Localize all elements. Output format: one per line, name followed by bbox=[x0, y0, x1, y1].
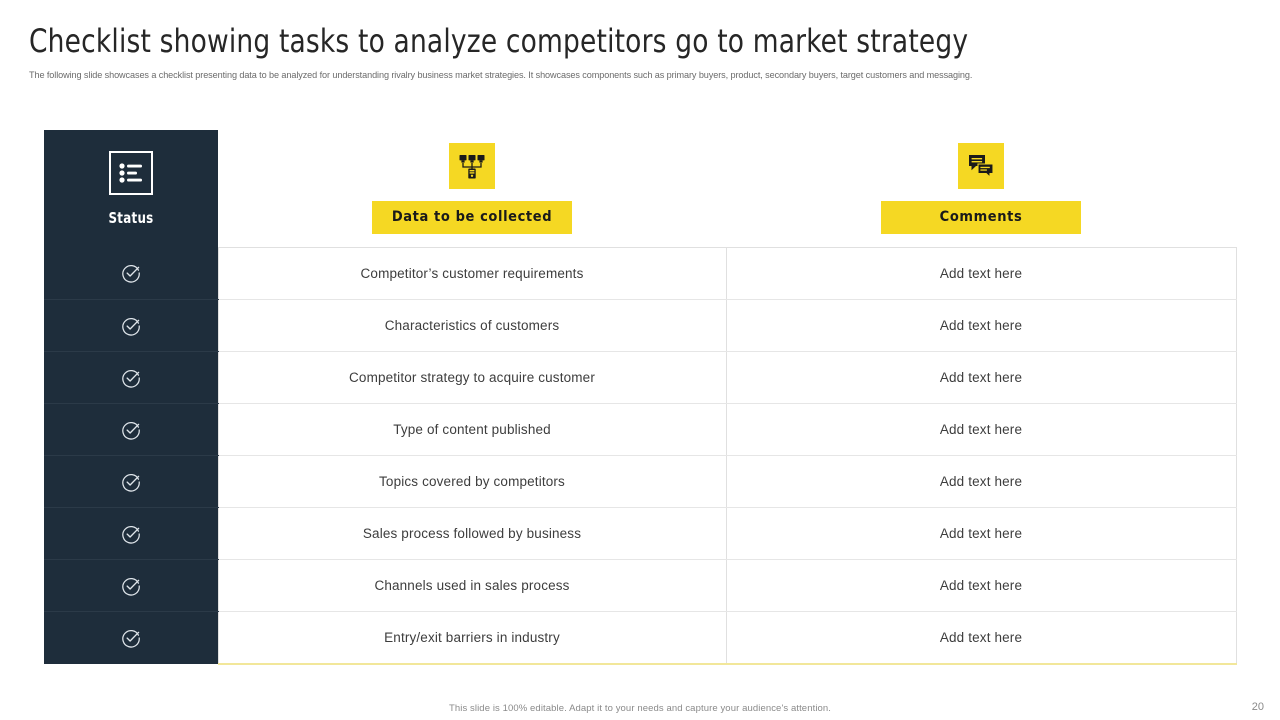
table-row: Sales process followed by businessAdd te… bbox=[44, 508, 1236, 560]
header-row: Status bbox=[44, 130, 1236, 248]
row-status-cell[interactable] bbox=[44, 248, 218, 300]
table-header: Status bbox=[44, 130, 1236, 248]
table-body: Competitor’s customer requirementsAdd te… bbox=[44, 248, 1236, 665]
column-header-status-label: Status bbox=[54, 209, 207, 227]
row-data-cell: Topics covered by competitors bbox=[218, 456, 726, 508]
row-data-cell: Competitor’s customer requirements bbox=[218, 248, 726, 300]
row-comments-cell[interactable]: Add text here bbox=[726, 612, 1236, 665]
check-circle-icon bbox=[44, 472, 218, 492]
row-status-cell[interactable] bbox=[44, 612, 218, 665]
row-comments-cell[interactable]: Add text here bbox=[726, 352, 1236, 404]
page-subtitle: The following slide showcases a checklis… bbox=[29, 69, 1173, 83]
check-circle-icon bbox=[44, 524, 218, 544]
row-data-cell: Characteristics of customers bbox=[218, 300, 726, 352]
row-data-cell: Competitor strategy to acquire customer bbox=[218, 352, 726, 404]
column-header-data: Data to be collected bbox=[218, 130, 726, 248]
table-row: Entry/exit barriers in industryAdd text … bbox=[44, 612, 1236, 665]
checklist-table: Status bbox=[44, 130, 1237, 665]
check-circle-icon bbox=[44, 263, 218, 283]
row-status-cell[interactable] bbox=[44, 404, 218, 456]
page-number: 20 bbox=[1252, 701, 1264, 713]
row-comments-cell[interactable]: Add text here bbox=[726, 508, 1236, 560]
row-comments-cell[interactable]: Add text here bbox=[726, 248, 1236, 300]
check-circle-icon bbox=[44, 628, 218, 648]
column-header-comments-label: Comments bbox=[881, 201, 1081, 234]
row-status-cell[interactable] bbox=[44, 508, 218, 560]
row-status-cell[interactable] bbox=[44, 352, 218, 404]
row-comments-cell[interactable]: Add text here bbox=[726, 404, 1236, 456]
column-header-comments: Comments bbox=[726, 130, 1236, 248]
column-header-data-label: Data to be collected bbox=[372, 201, 572, 234]
network-icon bbox=[449, 143, 495, 189]
check-circle-icon bbox=[44, 368, 218, 388]
row-data-cell: Entry/exit barriers in industry bbox=[218, 612, 726, 665]
row-data-cell: Sales process followed by business bbox=[218, 508, 726, 560]
row-status-cell[interactable] bbox=[44, 456, 218, 508]
row-comments-cell[interactable]: Add text here bbox=[726, 456, 1236, 508]
table-row: Type of content publishedAdd text here bbox=[44, 404, 1236, 456]
row-status-cell[interactable] bbox=[44, 560, 218, 612]
page-title: Checklist showing tasks to analyze compe… bbox=[29, 22, 968, 60]
table-row: Characteristics of customersAdd text her… bbox=[44, 300, 1236, 352]
table-row: Competitor strategy to acquire customerA… bbox=[44, 352, 1236, 404]
row-data-cell: Channels used in sales process bbox=[218, 560, 726, 612]
table-row: Topics covered by competitorsAdd text he… bbox=[44, 456, 1236, 508]
table-row: Channels used in sales processAdd text h… bbox=[44, 560, 1236, 612]
check-circle-icon bbox=[44, 316, 218, 336]
row-comments-cell[interactable]: Add text here bbox=[726, 560, 1236, 612]
list-icon bbox=[109, 151, 153, 195]
table-row: Competitor’s customer requirementsAdd te… bbox=[44, 248, 1236, 300]
check-circle-icon bbox=[44, 420, 218, 440]
chat-bubbles-icon bbox=[958, 143, 1004, 189]
row-status-cell[interactable] bbox=[44, 300, 218, 352]
check-circle-icon bbox=[44, 576, 218, 596]
row-data-cell: Type of content published bbox=[218, 404, 726, 456]
row-comments-cell[interactable]: Add text here bbox=[726, 300, 1236, 352]
column-header-status: Status bbox=[44, 130, 218, 248]
footer-note: This slide is 100% editable. Adapt it to… bbox=[0, 703, 1280, 714]
